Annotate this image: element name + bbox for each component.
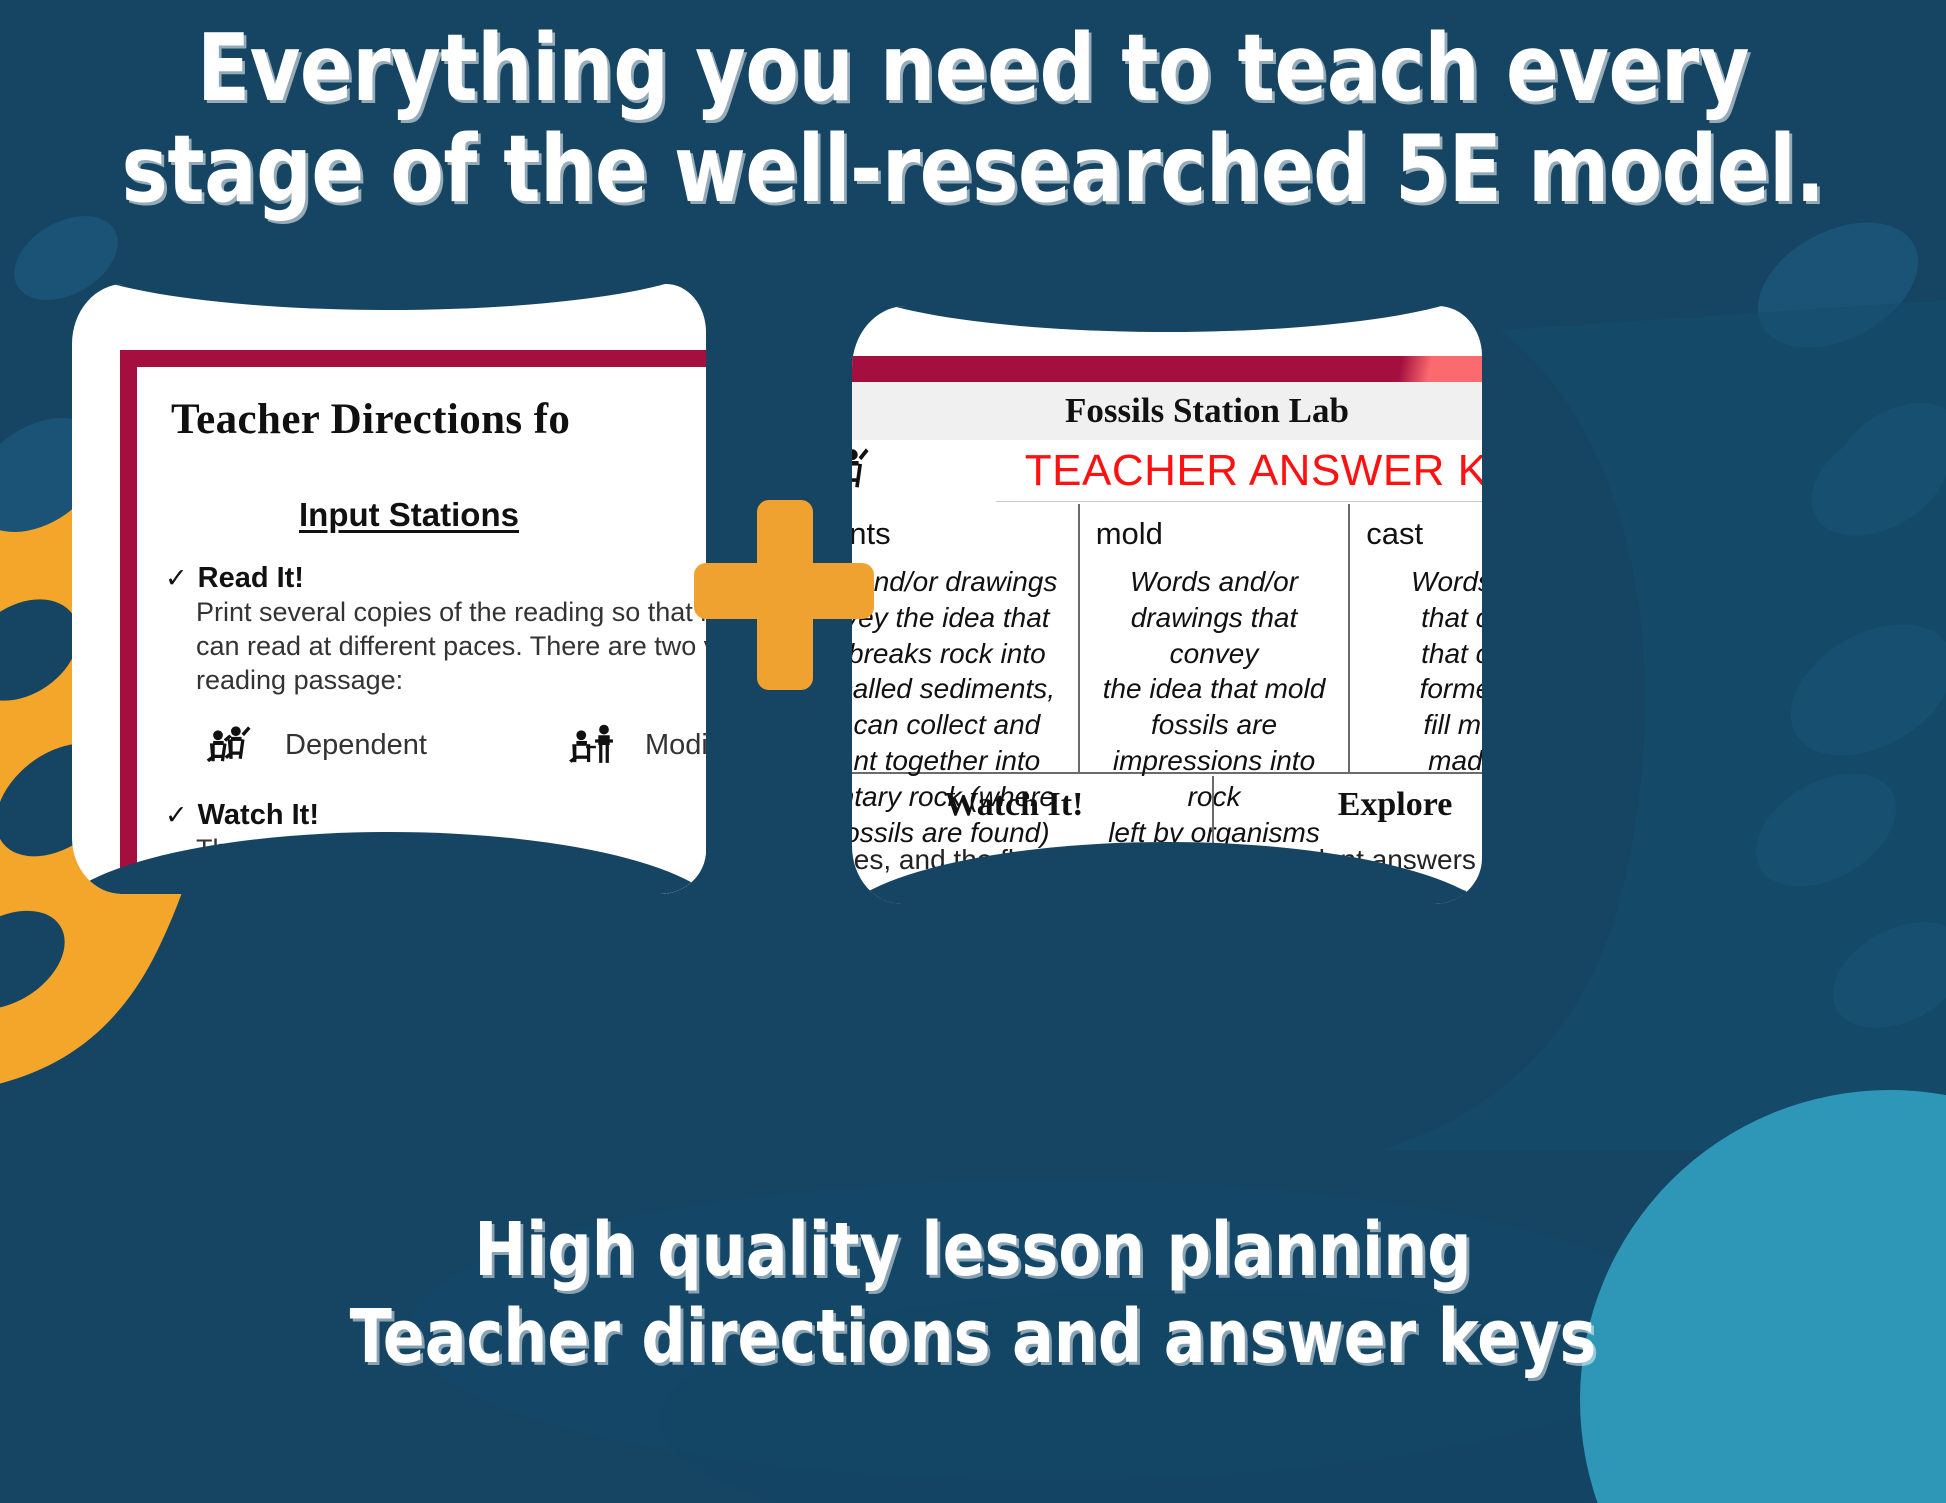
plus-icon xyxy=(694,500,874,690)
checklist-body-line: reading passage: xyxy=(196,663,706,697)
section-heading: Watch It! xyxy=(852,786,1196,824)
students-seated-icon xyxy=(852,442,874,500)
students-seated-icon xyxy=(205,719,257,771)
vocab-cell-mold: mold Words and/or drawings that convey t… xyxy=(1078,504,1349,772)
vocab-cell-cast: cast Words a that co that ca formed fill… xyxy=(1348,504,1482,772)
card-top-edge xyxy=(72,284,706,310)
headline-line-2: stage of the well-researched 5E model. xyxy=(68,119,1878,220)
teacher-directions-card[interactable]: Teacher Directions fo Input Stations ✓Re… xyxy=(72,284,706,894)
version-label: Modif xyxy=(645,729,706,762)
checklist-body-line: can read at different paces. There are t… xyxy=(196,629,706,663)
checklist-item-read-it: ✓Read It! Print several copies of the re… xyxy=(165,562,706,697)
footline-line-2: Teacher directions and answer keys xyxy=(68,1294,1878,1381)
vocab-cell-sediments: ents s and/or drawings vey the idea that… xyxy=(852,504,1078,772)
vocab-term: ents xyxy=(852,516,1062,552)
teacher-answer-key-label: TEACHER ANSWER KEY xyxy=(996,440,1482,502)
teacher-answer-key-card[interactable]: Fossils Station Lab TEACHER ANSWER KEY xyxy=(852,306,1482,904)
version-option-modified: Modif xyxy=(565,719,706,771)
teacher-directions-document: Teacher Directions fo Input Stations ✓Re… xyxy=(120,350,706,894)
version-option-dependent: Dependent xyxy=(205,719,565,771)
teacher-and-student-icon xyxy=(565,719,617,771)
vocab-row: ents s and/or drawings vey the idea that… xyxy=(852,504,1482,774)
checklist-body-line: Print several copies of the reading so t… xyxy=(196,595,706,629)
vocab-definition: Words a that co that ca formed fill mol … xyxy=(1366,564,1482,779)
input-stations-heading: Input Stations xyxy=(159,496,659,534)
page-footline: High quality lesson planning Teacher dir… xyxy=(68,1207,1878,1380)
card-top-edge xyxy=(852,306,1482,332)
plus-horizontal-bar xyxy=(694,563,874,619)
answer-key-top-bar xyxy=(852,356,1482,382)
checkmark-icon: ✓ xyxy=(165,563,188,593)
page-headline: Everything you need to teach every stage… xyxy=(68,18,1878,221)
version-label: Dependent xyxy=(285,729,427,762)
checkmark-icon: ✓ xyxy=(165,800,188,830)
vocab-term: cast xyxy=(1366,516,1482,552)
checklist-heading: ✓Read It! xyxy=(165,562,706,595)
answer-key-document: Fossils Station Lab TEACHER ANSWER KEY xyxy=(852,356,1482,904)
section-heading: Explore xyxy=(1230,786,1482,824)
version-icon-row: Dependent xyxy=(205,719,706,771)
headline-line-1: Everything you need to teach every xyxy=(68,18,1878,119)
answer-key-doc-title: Fossils Station Lab xyxy=(852,382,1482,440)
checklist-heading-label: Watch It! xyxy=(198,799,319,831)
checklist-heading: ✓Watch It! xyxy=(165,799,706,832)
vocab-term: mold xyxy=(1096,516,1333,552)
footline-line-1: High quality lesson planning xyxy=(68,1207,1878,1294)
checklist-heading-label: Read It! xyxy=(198,562,304,594)
document-title: Teacher Directions fo xyxy=(171,395,706,444)
